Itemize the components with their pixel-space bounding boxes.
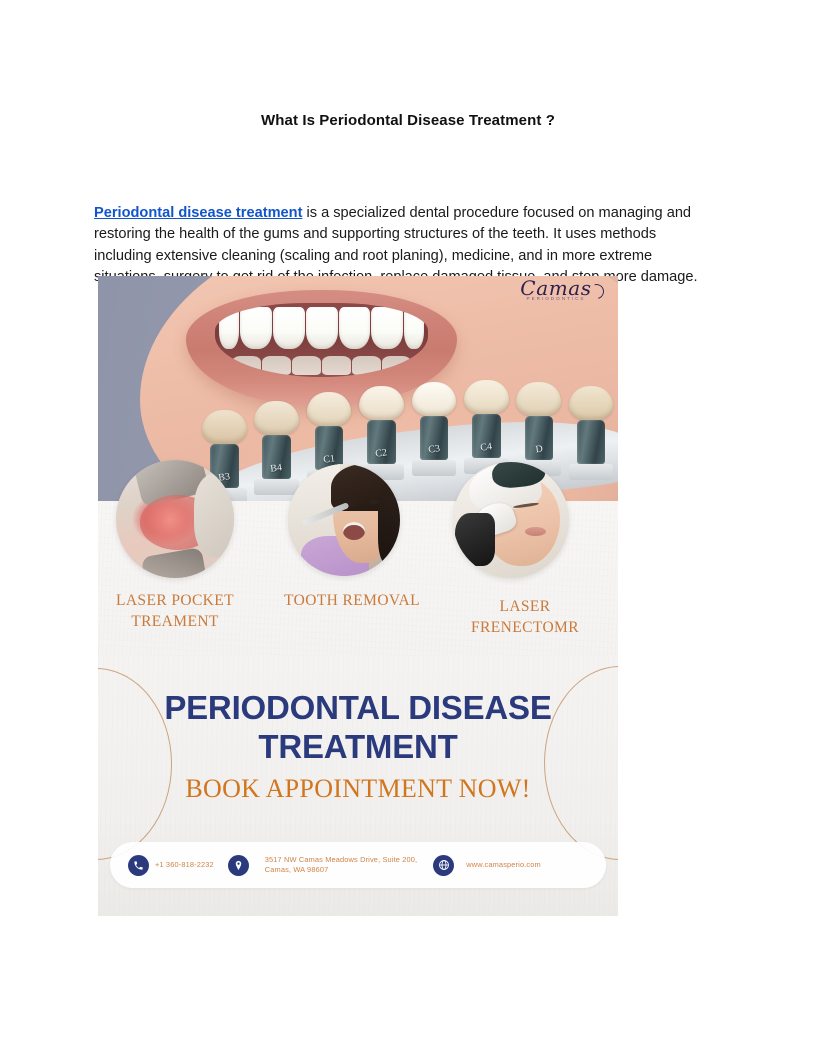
contact-address[interactable]: 3517 NW Camas Meadows Drive, Suite 200, … xyxy=(228,855,418,876)
shade-crown xyxy=(516,382,561,416)
treatment-label-tooth-removal: TOOTH REMOVAL xyxy=(266,590,438,611)
gloved-hand xyxy=(455,513,494,566)
tooth-removal-photo xyxy=(288,464,400,576)
tooth xyxy=(371,307,403,349)
shade-metal-holder: C2 xyxy=(367,420,396,464)
treatment-label-laser-pocket-treatment: LASER POCKET TREAMENT xyxy=(106,590,244,632)
shade-tab-label: C4 xyxy=(471,440,501,455)
tooth xyxy=(339,307,371,349)
shade-crown xyxy=(569,386,614,420)
tooth xyxy=(306,307,338,349)
laser-pocket-treatment-image xyxy=(116,460,234,578)
laser-frenectomy-photo xyxy=(453,462,569,578)
periodontal-treatment-poster: B3 B4 C1 C2 xyxy=(98,276,618,916)
shade-crown xyxy=(359,386,404,420)
patient-lips xyxy=(525,527,546,536)
phone-icon xyxy=(128,855,149,876)
contact-phone[interactable]: +1 360-818-2232 xyxy=(128,855,214,876)
towel-shape xyxy=(194,474,234,557)
shade-crown xyxy=(254,401,299,435)
shade-crown xyxy=(412,382,457,416)
address-text: 3517 NW Camas Meadows Drive, Suite 200, … xyxy=(265,855,418,875)
shade-crown xyxy=(202,410,247,444)
website-text: www.camasperio.com xyxy=(466,860,541,870)
phone-number-text: +1 360-818-2232 xyxy=(155,860,214,870)
tooth xyxy=(404,307,424,349)
shade-metal-holder xyxy=(577,420,606,464)
tooth-removal-image xyxy=(288,464,400,576)
shade-tab-label: C3 xyxy=(419,442,449,457)
contact-website[interactable]: www.camasperio.com xyxy=(433,855,541,876)
laser-frenectomy-image xyxy=(453,462,569,578)
contact-bar: +1 360-818-2232 3517 NW Camas Meadows Dr… xyxy=(110,842,606,888)
patient-hair-side xyxy=(378,480,400,563)
location-pin-icon xyxy=(228,855,249,876)
shade-metal-holder: C4 xyxy=(472,414,501,458)
document-page: What Is Periodontal Disease Treatment ? … xyxy=(0,0,816,1056)
poster-title-block: PERIODONTAL DISEASE TREATMENT BOOK APPOI… xyxy=(98,656,618,916)
shade-crown xyxy=(307,392,352,426)
treatment-photos-row xyxy=(98,460,618,580)
laser-device-bottom xyxy=(141,547,208,578)
globe-icon xyxy=(433,855,454,876)
shade-tab-label: C2 xyxy=(367,446,397,461)
periodontal-disease-treatment-link[interactable]: Periodontal disease treatment xyxy=(94,205,302,221)
shade-crown xyxy=(464,380,509,414)
poster-headline: PERIODONTAL DISEASE TREATMENT xyxy=(138,688,578,766)
shade-tab-label: D xyxy=(524,442,554,457)
shade-metal-holder: C3 xyxy=(420,416,449,460)
tooth xyxy=(240,307,272,349)
laser-pocket-treatment-photo xyxy=(116,460,234,578)
upper-teeth-row xyxy=(219,307,424,349)
page-title: What Is Periodontal Disease Treatment ? xyxy=(96,112,720,129)
shade-metal-holder: D xyxy=(525,416,554,460)
poster-call-to-action: BOOK APPOINTMENT NOW! xyxy=(158,774,558,804)
tooth xyxy=(219,307,239,349)
tooth xyxy=(273,307,305,349)
treatment-label-laser-frenectomy: LASER FRENECTOMR xyxy=(450,596,600,638)
